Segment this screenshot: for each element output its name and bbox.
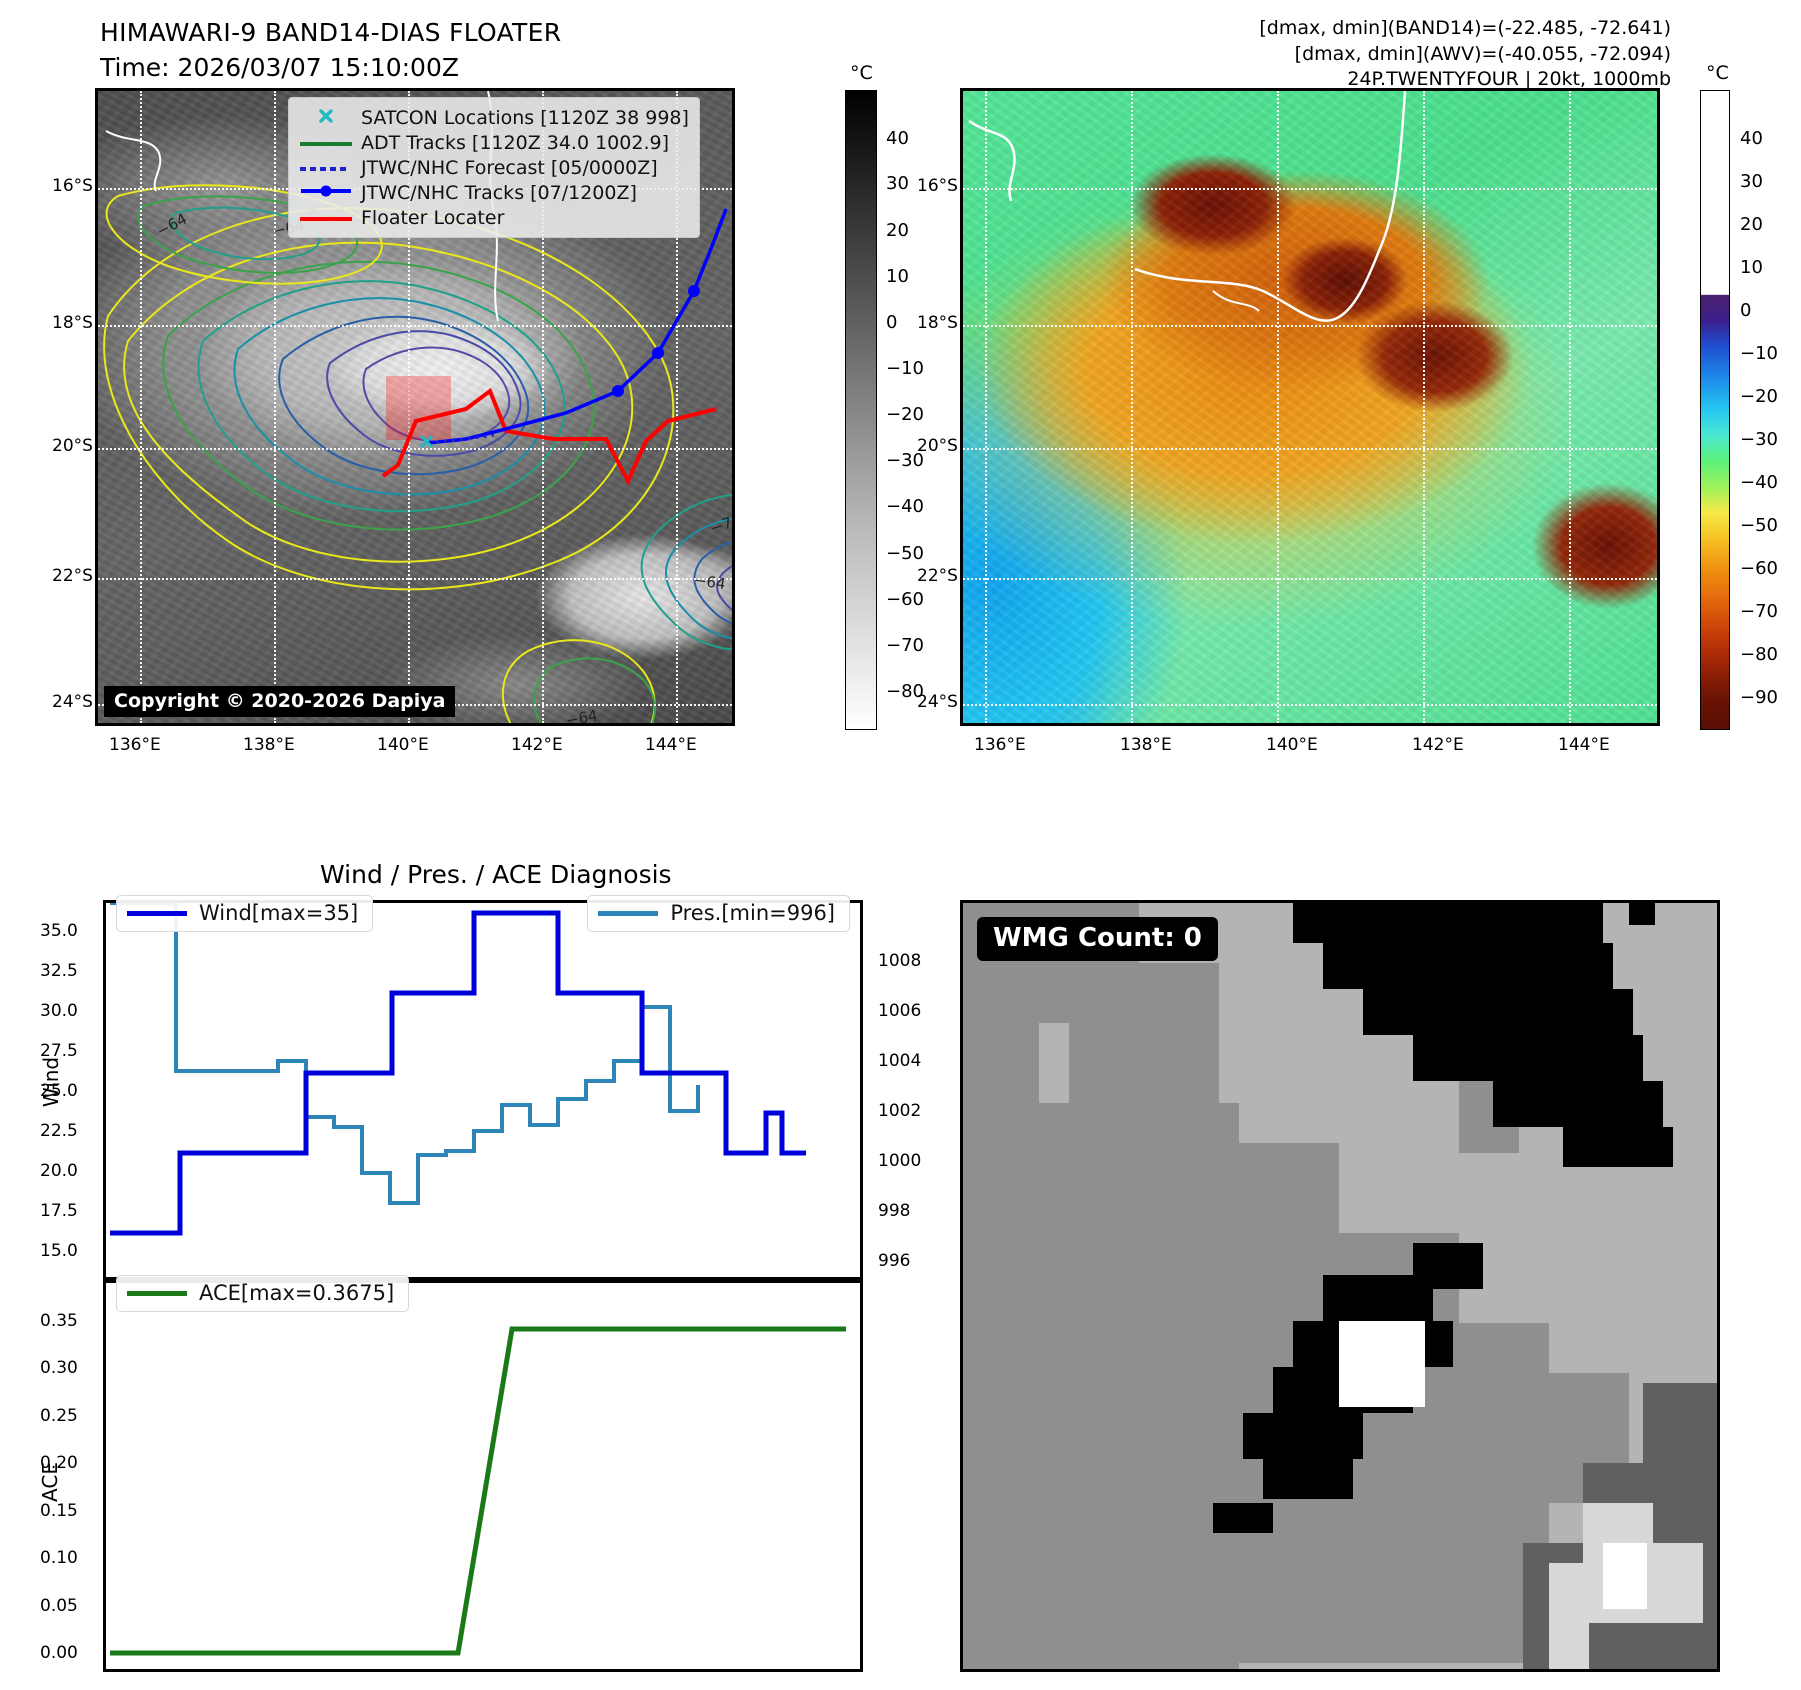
legend-item-satcon[interactable]: SATCON Locations [1120Z 38 998] — [297, 105, 689, 130]
grid-line-vertical — [985, 91, 987, 723]
wind-pressure-chart[interactable]: Wind[max=35] Pres.[min=996] — [103, 900, 863, 1280]
legend-item-tracks[interactable]: JTWC/NHC Tracks [07/1200Z] — [297, 180, 689, 205]
line-with-marker-icon — [297, 183, 355, 202]
colorbar-tick: 30 — [1740, 171, 1763, 192]
ace-tick-label: 0.00 — [40, 1643, 78, 1663]
wind-tick-label: 32.5 — [40, 961, 78, 981]
pressure-color-swatch — [598, 911, 658, 916]
right-panel-header: [dmax, dmin](BAND14)=(-22.485, -72.641) … — [1259, 16, 1671, 93]
dmax-dmin-awv: [dmax, dmin](AWV)=(-40.055, -72.094) — [1259, 42, 1671, 68]
wind-tick-label: 15.0 — [40, 1241, 78, 1261]
wmg-classification-panel[interactable]: WMG Count: 0 — [960, 900, 1720, 1672]
colorbar-tick: 10 — [886, 266, 909, 287]
ace-tick-label: 0.35 — [40, 1311, 78, 1331]
colorbar-tick: −40 — [1740, 472, 1778, 493]
pressure-legend[interactable]: Pres.[min=996] — [587, 895, 850, 932]
pressure-tick-label: 1002 — [878, 1101, 921, 1121]
lon-tick-label: 144°E — [1558, 735, 1610, 755]
map-legend: SATCON Locations [1120Z 38 998] ADT Trac… — [288, 97, 700, 238]
lat-tick-label: 18°S — [917, 313, 958, 333]
dotted-line-icon — [297, 158, 355, 177]
legend-label: JTWC/NHC Tracks [07/1200Z] — [361, 182, 637, 204]
colorbar-tick: −20 — [1740, 386, 1778, 407]
colorbar-tick: −50 — [1740, 515, 1778, 536]
colorbar-tick: −10 — [886, 358, 924, 379]
colorbar-tick: −70 — [886, 635, 924, 656]
colorbar-unit-label: °C — [850, 62, 873, 84]
wind-tick-label: 35.0 — [40, 921, 78, 941]
pressure-tick-label: 1004 — [878, 1051, 921, 1071]
lon-tick-label: 140°E — [1266, 735, 1318, 755]
wind-tick-label: 30.0 — [40, 1001, 78, 1021]
ace-plot — [106, 1283, 860, 1669]
coastline-overlay — [963, 91, 1660, 726]
wind-legend-label: Wind[max=35] — [199, 901, 358, 925]
lat-tick-label: 16°S — [917, 176, 958, 196]
wind-tick-label: 25.0 — [40, 1081, 78, 1101]
ace-tick-label: 0.10 — [40, 1548, 78, 1568]
ace-tick-label: 0.15 — [40, 1501, 78, 1521]
colorbar-tick: 0 — [1740, 300, 1751, 321]
ace-color-swatch — [127, 1291, 187, 1296]
colorbar-tick: −30 — [1740, 429, 1778, 450]
grid-line-horizontal — [963, 704, 1657, 706]
lat-tick-label: 22°S — [52, 566, 93, 586]
line-swatch-icon — [297, 208, 355, 227]
pressure-tick-label: 1006 — [878, 1001, 921, 1021]
colorbar-gradient — [1700, 90, 1730, 730]
colorbar-unit-label: °C — [1706, 62, 1729, 84]
lon-tick-label: 144°E — [645, 735, 697, 755]
ace-tick-label: 0.25 — [40, 1406, 78, 1426]
jtwc-track — [428, 209, 726, 443]
colorbar-tick: −60 — [1740, 558, 1778, 579]
page-title: HIMAWARI-9 BAND14-DIAS FLOATER — [100, 18, 561, 47]
pressure-tick-label: 1008 — [878, 951, 921, 971]
colorbar-gradient — [845, 90, 877, 730]
wind-legend[interactable]: Wind[max=35] — [116, 895, 373, 932]
pressure-series-line — [110, 903, 698, 1203]
wind-tick-label: 17.5 — [40, 1201, 78, 1221]
legend-label: Floater Locater — [361, 207, 504, 229]
lat-tick-label: 20°S — [52, 436, 93, 456]
grid-line-horizontal — [963, 448, 1657, 450]
lon-tick-label: 142°E — [511, 735, 563, 755]
grid-line-vertical — [1131, 91, 1133, 723]
enhanced-ir-map[interactable] — [960, 88, 1660, 726]
pressure-tick-label: 1000 — [878, 1151, 921, 1171]
colorbar-tick: −50 — [886, 543, 924, 564]
left-panel-title-block: HIMAWARI-9 BAND14-DIAS FLOATER Time: 202… — [100, 18, 561, 82]
lat-tick-label: 18°S — [52, 313, 93, 333]
line-swatch-icon — [297, 133, 355, 152]
wmg-raster — [963, 903, 1717, 1669]
grid-line-vertical — [1569, 91, 1571, 723]
ace-chart[interactable]: ACE[max=0.3675] — [103, 1280, 863, 1672]
colorbar-tick: −60 — [886, 589, 924, 610]
colorbar-tick: 30 — [886, 173, 909, 194]
cross-icon — [297, 107, 355, 129]
colorbar-tick: −70 — [1740, 601, 1778, 622]
legend-item-forecast[interactable]: JTWC/NHC Forecast [05/0000Z] — [297, 155, 689, 180]
lat-tick-label: 24°S — [917, 692, 958, 712]
lat-tick-label: 22°S — [917, 566, 958, 586]
dmax-dmin-band14: [dmax, dmin](BAND14)=(-22.485, -72.641) — [1259, 16, 1671, 42]
legend-label: JTWC/NHC Forecast [05/0000Z] — [361, 157, 658, 179]
legend-label: SATCON Locations [1120Z 38 998] — [361, 107, 689, 129]
ace-legend[interactable]: ACE[max=0.3675] — [116, 1275, 409, 1312]
timestamp-label: Time: 2026/03/07 15:10:00Z — [100, 53, 561, 82]
legend-label: ADT Tracks [1120Z 34.0 1002.9] — [361, 132, 669, 154]
colorbar-tick: 20 — [886, 220, 909, 241]
wmg-count-badge: WMG Count: 0 — [977, 917, 1218, 961]
dashboard-root: HIMAWARI-9 BAND14-DIAS FLOATER Time: 202… — [0, 0, 1801, 1690]
colorbar-tick: −20 — [886, 404, 924, 425]
grid-line-horizontal — [963, 325, 1657, 327]
ace-tick-label: 0.05 — [40, 1596, 78, 1616]
wind-tick-label: 27.5 — [40, 1041, 78, 1061]
colorbar-tick: −90 — [1740, 687, 1778, 708]
ace-tick-label: 0.20 — [40, 1453, 78, 1473]
colorbar-tick: 10 — [1740, 257, 1763, 278]
lon-tick-label: 138°E — [1120, 735, 1172, 755]
lon-tick-label: 140°E — [377, 735, 429, 755]
wind-color-swatch — [127, 911, 187, 916]
grid-line-horizontal — [963, 578, 1657, 580]
lon-tick-label: 138°E — [243, 735, 295, 755]
lon-tick-label: 142°E — [1412, 735, 1464, 755]
legend-item-adt[interactable]: ADT Tracks [1120Z 34.0 1002.9] — [297, 130, 689, 155]
colorbar-tick: 0 — [886, 312, 897, 333]
colorbar-tick: 20 — [1740, 214, 1763, 235]
colorbar-tick: 40 — [1740, 128, 1763, 149]
grid-line-vertical — [1277, 91, 1279, 723]
colorbar-tick: −80 — [1740, 644, 1778, 665]
copyright-notice: Copyright © 2020-2026 Dapiya — [104, 686, 455, 717]
ir-floater-map[interactable]: −64 −64 −76 −64 −64 SATCON Locations [11… — [95, 88, 735, 726]
colorbar-tick: −40 — [886, 496, 924, 517]
lat-tick-label: 16°S — [52, 176, 93, 196]
grid-line-horizontal — [963, 188, 1657, 190]
lon-tick-label: 136°E — [974, 735, 1026, 755]
pressure-tick-label: 998 — [878, 1201, 910, 1221]
colorbar-tick: 40 — [886, 128, 909, 149]
diagnosis-chart-title: Wind / Pres. / ACE Diagnosis — [320, 860, 672, 889]
grid-line-vertical — [1423, 91, 1425, 723]
legend-item-floater[interactable]: Floater Locater — [297, 205, 689, 230]
lon-tick-label: 136°E — [109, 735, 161, 755]
lat-tick-label: 24°S — [52, 692, 93, 712]
pressure-tick-label: 996 — [878, 1251, 910, 1271]
wind-pressure-plot — [106, 903, 860, 1277]
ace-tick-label: 0.30 — [40, 1358, 78, 1378]
colorbar-tick: −10 — [1740, 343, 1778, 364]
wind-tick-label: 22.5 — [40, 1121, 78, 1141]
lat-tick-label: 20°S — [917, 436, 958, 456]
ace-legend-label: ACE[max=0.3675] — [199, 1281, 394, 1305]
wind-tick-label: 20.0 — [40, 1161, 78, 1181]
ace-series-line — [110, 1329, 846, 1653]
pressure-legend-label: Pres.[min=996] — [670, 901, 835, 925]
